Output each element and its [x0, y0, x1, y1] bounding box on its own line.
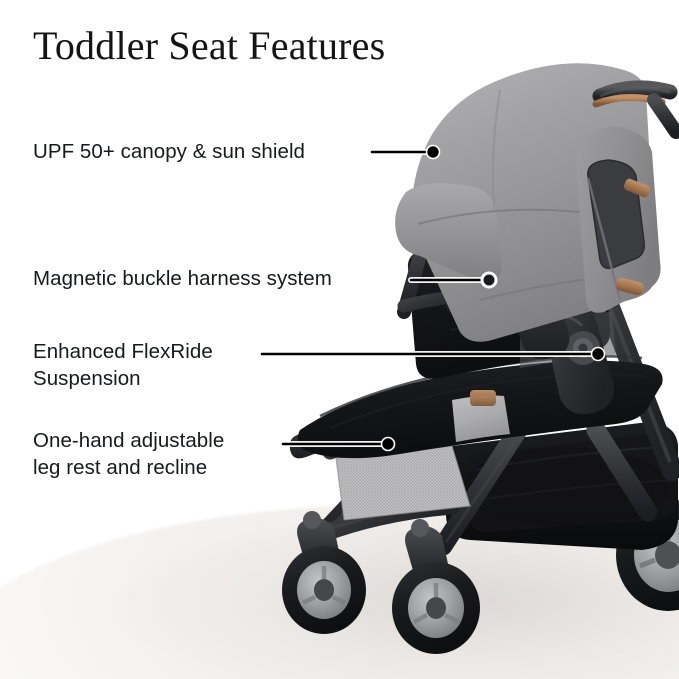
page-title: Toddler Seat Features: [33, 22, 385, 69]
leader-dot-suspension: [592, 348, 605, 361]
feature-label-canopy: UPF 50+ canopy & sun shield: [33, 138, 305, 165]
feature-label-suspension: Enhanced FlexRide Suspension: [33, 338, 213, 392]
leader-dot-harness: [482, 273, 496, 287]
illustration-canvas: Toddler Seat Features UPF 50+ canopy & s…: [0, 0, 679, 679]
feature-label-harness: Magnetic buckle harness system: [33, 265, 332, 292]
leader-dot-legrest: [382, 438, 395, 451]
feature-label-legrest: One-hand adjustable leg rest and recline: [33, 427, 224, 481]
leader-dot-canopy: [427, 146, 440, 159]
